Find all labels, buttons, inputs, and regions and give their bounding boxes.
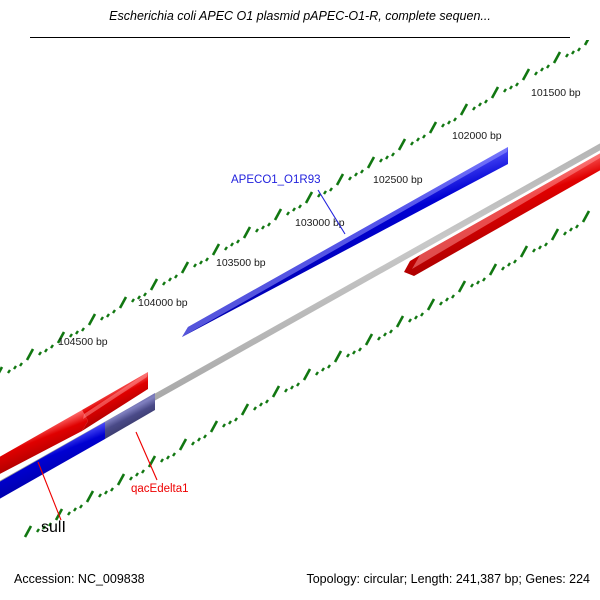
status-bar: Accession: NC_009838 Topology: circular;… — [0, 558, 600, 600]
gene-leader-line — [38, 462, 61, 520]
genome-map-svg[interactable]: 101500 bp 102000 bp 102500 bp 103000 bp … — [0, 40, 600, 558]
page-title: Escherichia coli APEC O1 plasmid pAPEC-O… — [0, 9, 600, 23]
header-divider — [30, 37, 570, 38]
ruler-track-reverse — [25, 211, 589, 537]
gene-label-suli-group[interactable]: sulI — [38, 462, 66, 536]
ruler-major-ticks-reverse — [25, 211, 589, 537]
ruler-label: 103000 bp — [295, 217, 345, 229]
feature-reverse-upper-right[interactable] — [404, 150, 600, 276]
gene-label-suli[interactable]: sulI — [41, 519, 66, 536]
ruler-label: 101500 bp — [531, 87, 581, 99]
gene-label-apeco1-o1r93[interactable]: APECO1_O1R93 — [231, 174, 321, 186]
header: Escherichia coli APEC O1 plasmid pAPEC-O… — [0, 0, 600, 40]
genome-map-viewer: Escherichia coli APEC O1 plasmid pAPEC-O… — [0, 0, 600, 600]
gene-label-qacedelta1-group[interactable]: qacEdelta1 — [131, 432, 189, 495]
accession-label: Accession: NC_009838 — [14, 572, 145, 586]
ruler-minor-ticks-reverse — [37, 225, 578, 532]
gene-label-qacedelta1[interactable]: qacEdelta1 — [131, 483, 189, 495]
ruler-label: 103500 bp — [216, 257, 266, 269]
ruler-label: 102000 bp — [452, 130, 502, 142]
sequence-stats-label: Topology: circular; Length: 241,387 bp; … — [306, 572, 590, 586]
ruler-label: 104500 bp — [58, 336, 108, 348]
ruler-label: 104000 bp — [138, 297, 188, 309]
ruler-minor-ticks-forward — [8, 48, 580, 373]
ruler-label: 102500 bp — [373, 174, 423, 186]
map-canvas[interactable]: 101500 bp 102000 bp 102500 bp 103000 bp … — [0, 40, 600, 558]
